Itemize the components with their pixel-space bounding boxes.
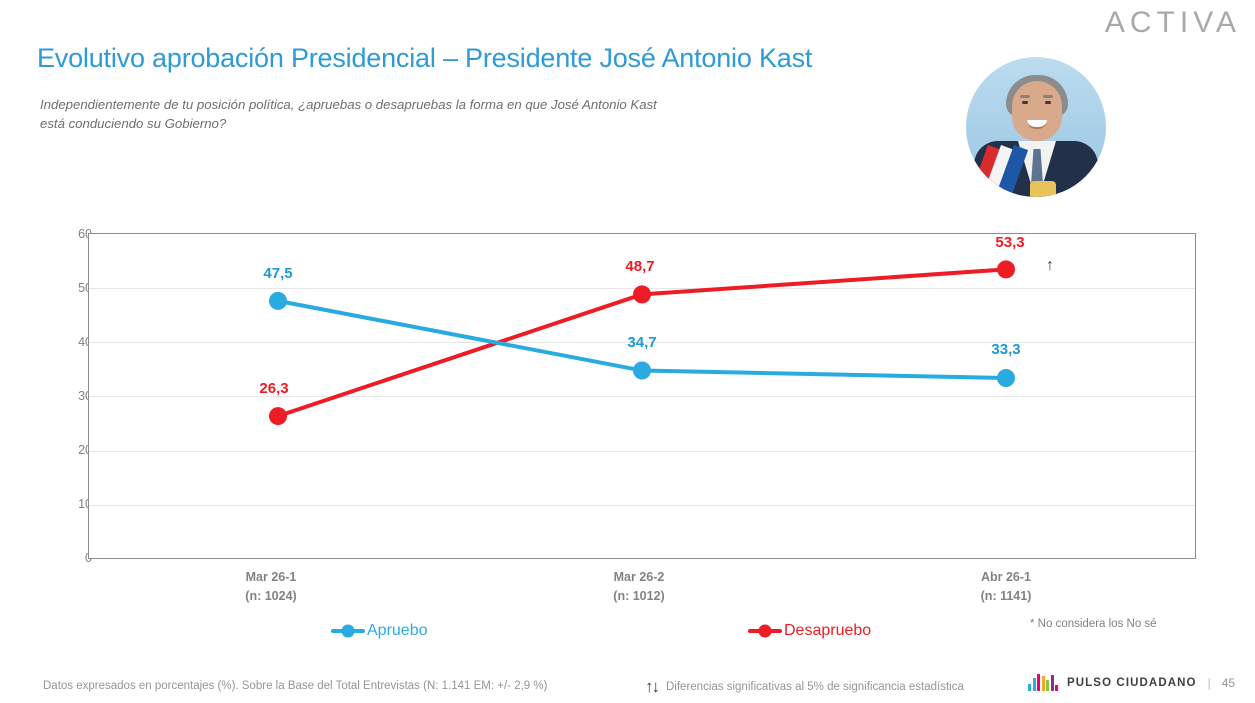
y-tick-20: 20 [52, 443, 92, 457]
y-tick-30: 30 [52, 389, 92, 403]
x-label-n: (n: 1024) [245, 587, 296, 606]
significance-legend-text: Diferencias significativas al 5% de sign… [666, 681, 964, 693]
x-label-mar-26-2: Mar 26-2 (n: 1012) [613, 568, 664, 607]
data-label-apruebo-0: 47,5 [263, 265, 292, 282]
x-label-mar-26-1: Mar 26-1 (n: 1024) [245, 568, 296, 607]
y-tick-0: 0 [52, 551, 92, 565]
x-label-n: (n: 1012) [613, 587, 664, 606]
marker-apruebo-1 [633, 362, 651, 380]
footer-separator: | [1208, 676, 1211, 690]
page-number: 45 [1222, 676, 1235, 690]
legend-label-desapruebo: Desapruebo [784, 622, 871, 640]
marker-apruebo-2 [997, 369, 1015, 387]
x-label-period: Abr 26-1 [981, 568, 1032, 587]
marker-desapruebo-1 [633, 285, 651, 303]
series-overlay [88, 233, 1196, 559]
legend-item-apruebo[interactable]: Apruebo [331, 622, 428, 640]
legend-marker-desapruebo-icon [748, 629, 782, 633]
up-down-arrow-icon: ↑↓ [645, 678, 658, 695]
data-label-desapruebo-2: 53,3 [995, 234, 1024, 251]
y-tick-60: 60 [52, 227, 92, 241]
x-label-period: Mar 26-2 [613, 568, 664, 587]
legend-label-apruebo: Apruebo [367, 622, 428, 640]
marker-apruebo-0 [269, 292, 287, 310]
y-tick-10: 10 [52, 497, 92, 511]
legend-item-desapruebo[interactable]: Desapruebo [748, 622, 871, 640]
approval-line-chart: 60 50 40 30 20 10 0 47 [0, 0, 1255, 703]
significance-legend: ↑↓ Diferencias significativas al 5% de s… [645, 678, 964, 695]
pulso-ciudadano-name: PULSO CIUDADANO [1067, 677, 1197, 689]
footnote-no-sabe: * No considera los No sé [1030, 618, 1157, 630]
data-label-apruebo-2: 33,3 [991, 341, 1020, 358]
significance-up-arrow-icon: ↑ [1046, 258, 1054, 274]
x-label-abr-26-1: Abr 26-1 (n: 1141) [981, 568, 1032, 607]
y-tick-40: 40 [52, 335, 92, 349]
data-label-apruebo-1: 34,7 [627, 334, 656, 351]
y-tick-50: 50 [52, 281, 92, 295]
legend-marker-apruebo-icon [331, 629, 365, 633]
x-label-period: Mar 26-1 [245, 568, 296, 587]
marker-desapruebo-2 [997, 260, 1015, 278]
pulso-bars-icon [1028, 674, 1058, 691]
slide: ACTIVA Evolutivo aprobación Presidencial… [0, 0, 1255, 703]
data-label-desapruebo-0: 26,3 [259, 380, 288, 397]
marker-desapruebo-0 [269, 407, 287, 425]
x-label-n: (n: 1141) [981, 587, 1032, 606]
data-label-desapruebo-1: 48,7 [625, 258, 654, 275]
footer-base-note: Datos expresados en porcentajes (%). Sob… [43, 680, 547, 692]
pulso-ciudadano-logo: PULSO CIUDADANO | 45 [1028, 674, 1235, 691]
